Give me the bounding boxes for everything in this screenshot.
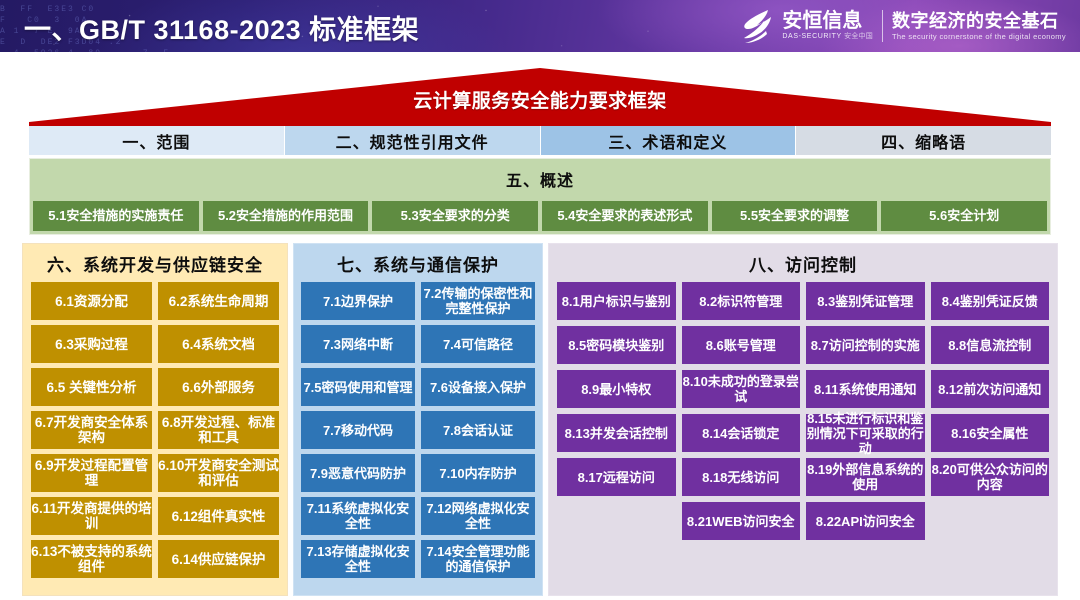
section-seven-item[interactable]: 7.5密码使用和管理 — [301, 368, 415, 406]
section-seven-item[interactable]: 7.7移动代码 — [301, 411, 415, 449]
section-seven-item[interactable]: 7.9恶意代码防护 — [301, 454, 415, 492]
section-eight-item[interactable]: 8.2标识符管理 — [682, 282, 801, 320]
section-eight-item[interactable]: 8.6账号管理 — [682, 326, 801, 364]
top-section-2[interactable]: 二、规范性引用文件 — [285, 126, 541, 155]
brand-name-en: DAS-SECURITY 安全中国 — [782, 32, 873, 42]
section-six-item[interactable]: 6.7开发商安全体系架构 — [31, 411, 152, 449]
section-six-item[interactable]: 6.12组件真实性 — [158, 497, 279, 535]
section-eight-item[interactable]: 8.7访问控制的实施 — [806, 326, 925, 364]
section-eight-item[interactable]: 8.17远程访问 — [557, 458, 676, 496]
section-six-items: 6.1资源分配6.2系统生命周期6.3采购过程6.4系统文档6.5 关键性分析6… — [23, 282, 287, 585]
page-title: 一、GB/T 31168-2023 标准框架 — [24, 8, 419, 47]
section-eight-item[interactable]: 8.18无线访问 — [682, 458, 801, 496]
section-six-item[interactable]: 6.8开发过程、标准和工具 — [158, 411, 279, 449]
section-seven-item[interactable]: 7.10内存防护 — [421, 454, 535, 492]
section-eight-item[interactable]: 8.14会话锁定 — [682, 414, 801, 452]
slide-canvas: B FF E3E3 C0 F C0 3 0A A 1 7 E 9A E D DE… — [0, 0, 1080, 600]
section-six-panel: 六、系统开发与供应链安全 6.1资源分配6.2系统生命周期6.3采购过程6.4系… — [22, 243, 288, 596]
section-seven-item[interactable]: 7.1边界保护 — [301, 282, 415, 320]
section-six-item[interactable]: 6.2系统生命周期 — [158, 282, 279, 320]
section-eight-items: 8.1用户标识与鉴别8.2标识符管理8.3鉴别凭证管理8.4鉴别凭证反馈8.5密… — [549, 282, 1057, 547]
top-section-4[interactable]: 四、缩略语 — [796, 126, 1051, 155]
header-banner: B FF E3E3 C0 F C0 3 0A A 1 7 E 9A E D DE… — [0, 0, 1080, 52]
logo-divider — [882, 10, 883, 42]
section-five-item[interactable]: 5.3安全要求的分类 — [372, 201, 538, 231]
section-five-item[interactable]: 5.1安全措施的实施责任 — [33, 201, 199, 231]
section-six-item[interactable]: 6.4系统文档 — [158, 325, 279, 363]
slogan-en: The security cornerstone of the digital … — [892, 31, 1066, 42]
section-six-item[interactable]: 6.5 关键性分析 — [31, 368, 152, 406]
section-six-title: 六、系统开发与供应链安全 — [23, 244, 287, 282]
section-seven-title: 七、系统与通信保护 — [294, 244, 542, 282]
section-eight-item[interactable]: 8.19外部信息系统的使用 — [806, 458, 925, 496]
section-seven-panel: 七、系统与通信保护 7.1边界保护7.2传输的保密性和完整性保护7.3网络中断7… — [293, 243, 543, 596]
section-eight-item[interactable]: 8.1用户标识与鉴别 — [557, 282, 676, 320]
section-eight-item[interactable]: 8.13并发会话控制 — [557, 414, 676, 452]
section-seven-item[interactable]: 7.3网络中断 — [301, 325, 415, 363]
section-seven-item[interactable]: 7.13存储虚拟化安全性 — [301, 540, 415, 578]
section-eight-item[interactable]: 8.10未成功的登录尝试 — [682, 370, 801, 408]
brand-name-block: 安恒信息 DAS-SECURITY 安全中国 — [782, 11, 873, 42]
section-seven-item[interactable]: 7.11系统虚拟化安全性 — [301, 497, 415, 535]
section-eight-item[interactable]: 8.21WEB访问安全 — [682, 502, 801, 540]
section-eight-item[interactable]: 8.5密码模块鉴别 — [557, 326, 676, 364]
section-five-item[interactable]: 5.4安全要求的表述形式 — [542, 201, 708, 231]
brand-name-en-main: DAS-SECURITY — [782, 33, 841, 40]
grid-spacer — [931, 502, 1050, 540]
section-eight-item[interactable]: 8.9最小特权 — [557, 370, 676, 408]
section-seven-item[interactable]: 7.12网络虚拟化安全性 — [421, 497, 535, 535]
section-six-item[interactable]: 6.1资源分配 — [31, 282, 152, 320]
section-seven-item[interactable]: 7.14安全管理功能的通信保护 — [421, 540, 535, 578]
grid-spacer — [557, 502, 676, 540]
das-security-swoosh-logo-icon — [739, 8, 773, 44]
section-eight-title: 八、访问控制 — [549, 244, 1057, 282]
brand-logo-block: 安恒信息 DAS-SECURITY 安全中国 数字经济的安全基石 The sec… — [739, 6, 1066, 46]
section-six-item[interactable]: 6.11开发商提供的培训 — [31, 497, 152, 535]
brand-name-en-sub: 安全中国 — [844, 33, 873, 40]
section-eight-item[interactable]: 8.22API访问安全 — [806, 502, 925, 540]
section-five-item[interactable]: 5.5安全要求的调整 — [712, 201, 878, 231]
section-eight-item[interactable]: 8.20可供公众访问的内容 — [931, 458, 1050, 496]
brand-slogan-block: 数字经济的安全基石 The security cornerstone of th… — [892, 11, 1066, 42]
section-six-item[interactable]: 6.6外部服务 — [158, 368, 279, 406]
section-seven-item[interactable]: 7.8会话认证 — [421, 411, 535, 449]
section-seven-item[interactable]: 7.6设备接入保护 — [421, 368, 535, 406]
top-section-3[interactable]: 三、术语和定义 — [541, 126, 797, 155]
section-eight-item[interactable]: 8.4鉴别凭证反馈 — [931, 282, 1050, 320]
brand-name-cn: 安恒信息 — [782, 11, 873, 32]
slogan-cn: 数字经济的安全基石 — [892, 11, 1066, 31]
section-eight-item[interactable]: 8.8信息流控制 — [931, 326, 1050, 364]
section-six-item[interactable]: 6.3采购过程 — [31, 325, 152, 363]
section-eight-item[interactable]: 8.12前次访问通知 — [931, 370, 1050, 408]
section-seven-item[interactable]: 7.4可信路径 — [421, 325, 535, 363]
section-six-item[interactable]: 6.10开发商安全测试和评估 — [158, 454, 279, 492]
top-sections-row: 一、范围 二、规范性引用文件 三、术语和定义 四、缩略语 — [29, 126, 1051, 155]
section-six-item[interactable]: 6.14供应链保护 — [158, 540, 279, 578]
section-eight-panel: 八、访问控制 8.1用户标识与鉴别8.2标识符管理8.3鉴别凭证管理8.4鉴别凭… — [548, 243, 1058, 596]
section-eight-item[interactable]: 8.15未进行标识和鉴别情况下可采取的行动 — [806, 414, 925, 452]
section-eight-item[interactable]: 8.3鉴别凭证管理 — [806, 282, 925, 320]
section-five-title: 五、概述 — [30, 167, 1050, 191]
section-five-items: 5.1安全措施的实施责任5.2安全措施的作用范围5.3安全要求的分类5.4安全要… — [33, 201, 1047, 231]
section-seven-items: 7.1边界保护7.2传输的保密性和完整性保护7.3网络中断7.4可信路径7.5密… — [294, 282, 542, 585]
section-five-item[interactable]: 5.6安全计划 — [881, 201, 1047, 231]
section-six-item[interactable]: 6.13不被支持的系统组件 — [31, 540, 152, 578]
section-five-item[interactable]: 5.2安全措施的作用范围 — [203, 201, 369, 231]
roof-title: 云计算服务安全能力要求框架 — [0, 86, 1080, 113]
section-seven-item[interactable]: 7.2传输的保密性和完整性保护 — [421, 282, 535, 320]
section-eight-item[interactable]: 8.11系统使用通知 — [806, 370, 925, 408]
section-five-panel: 五、概述 5.1安全措施的实施责任5.2安全措施的作用范围5.3安全要求的分类5… — [29, 158, 1051, 235]
section-six-item[interactable]: 6.9开发过程配置管理 — [31, 454, 152, 492]
top-section-1[interactable]: 一、范围 — [29, 126, 285, 155]
section-eight-item[interactable]: 8.16安全属性 — [931, 414, 1050, 452]
